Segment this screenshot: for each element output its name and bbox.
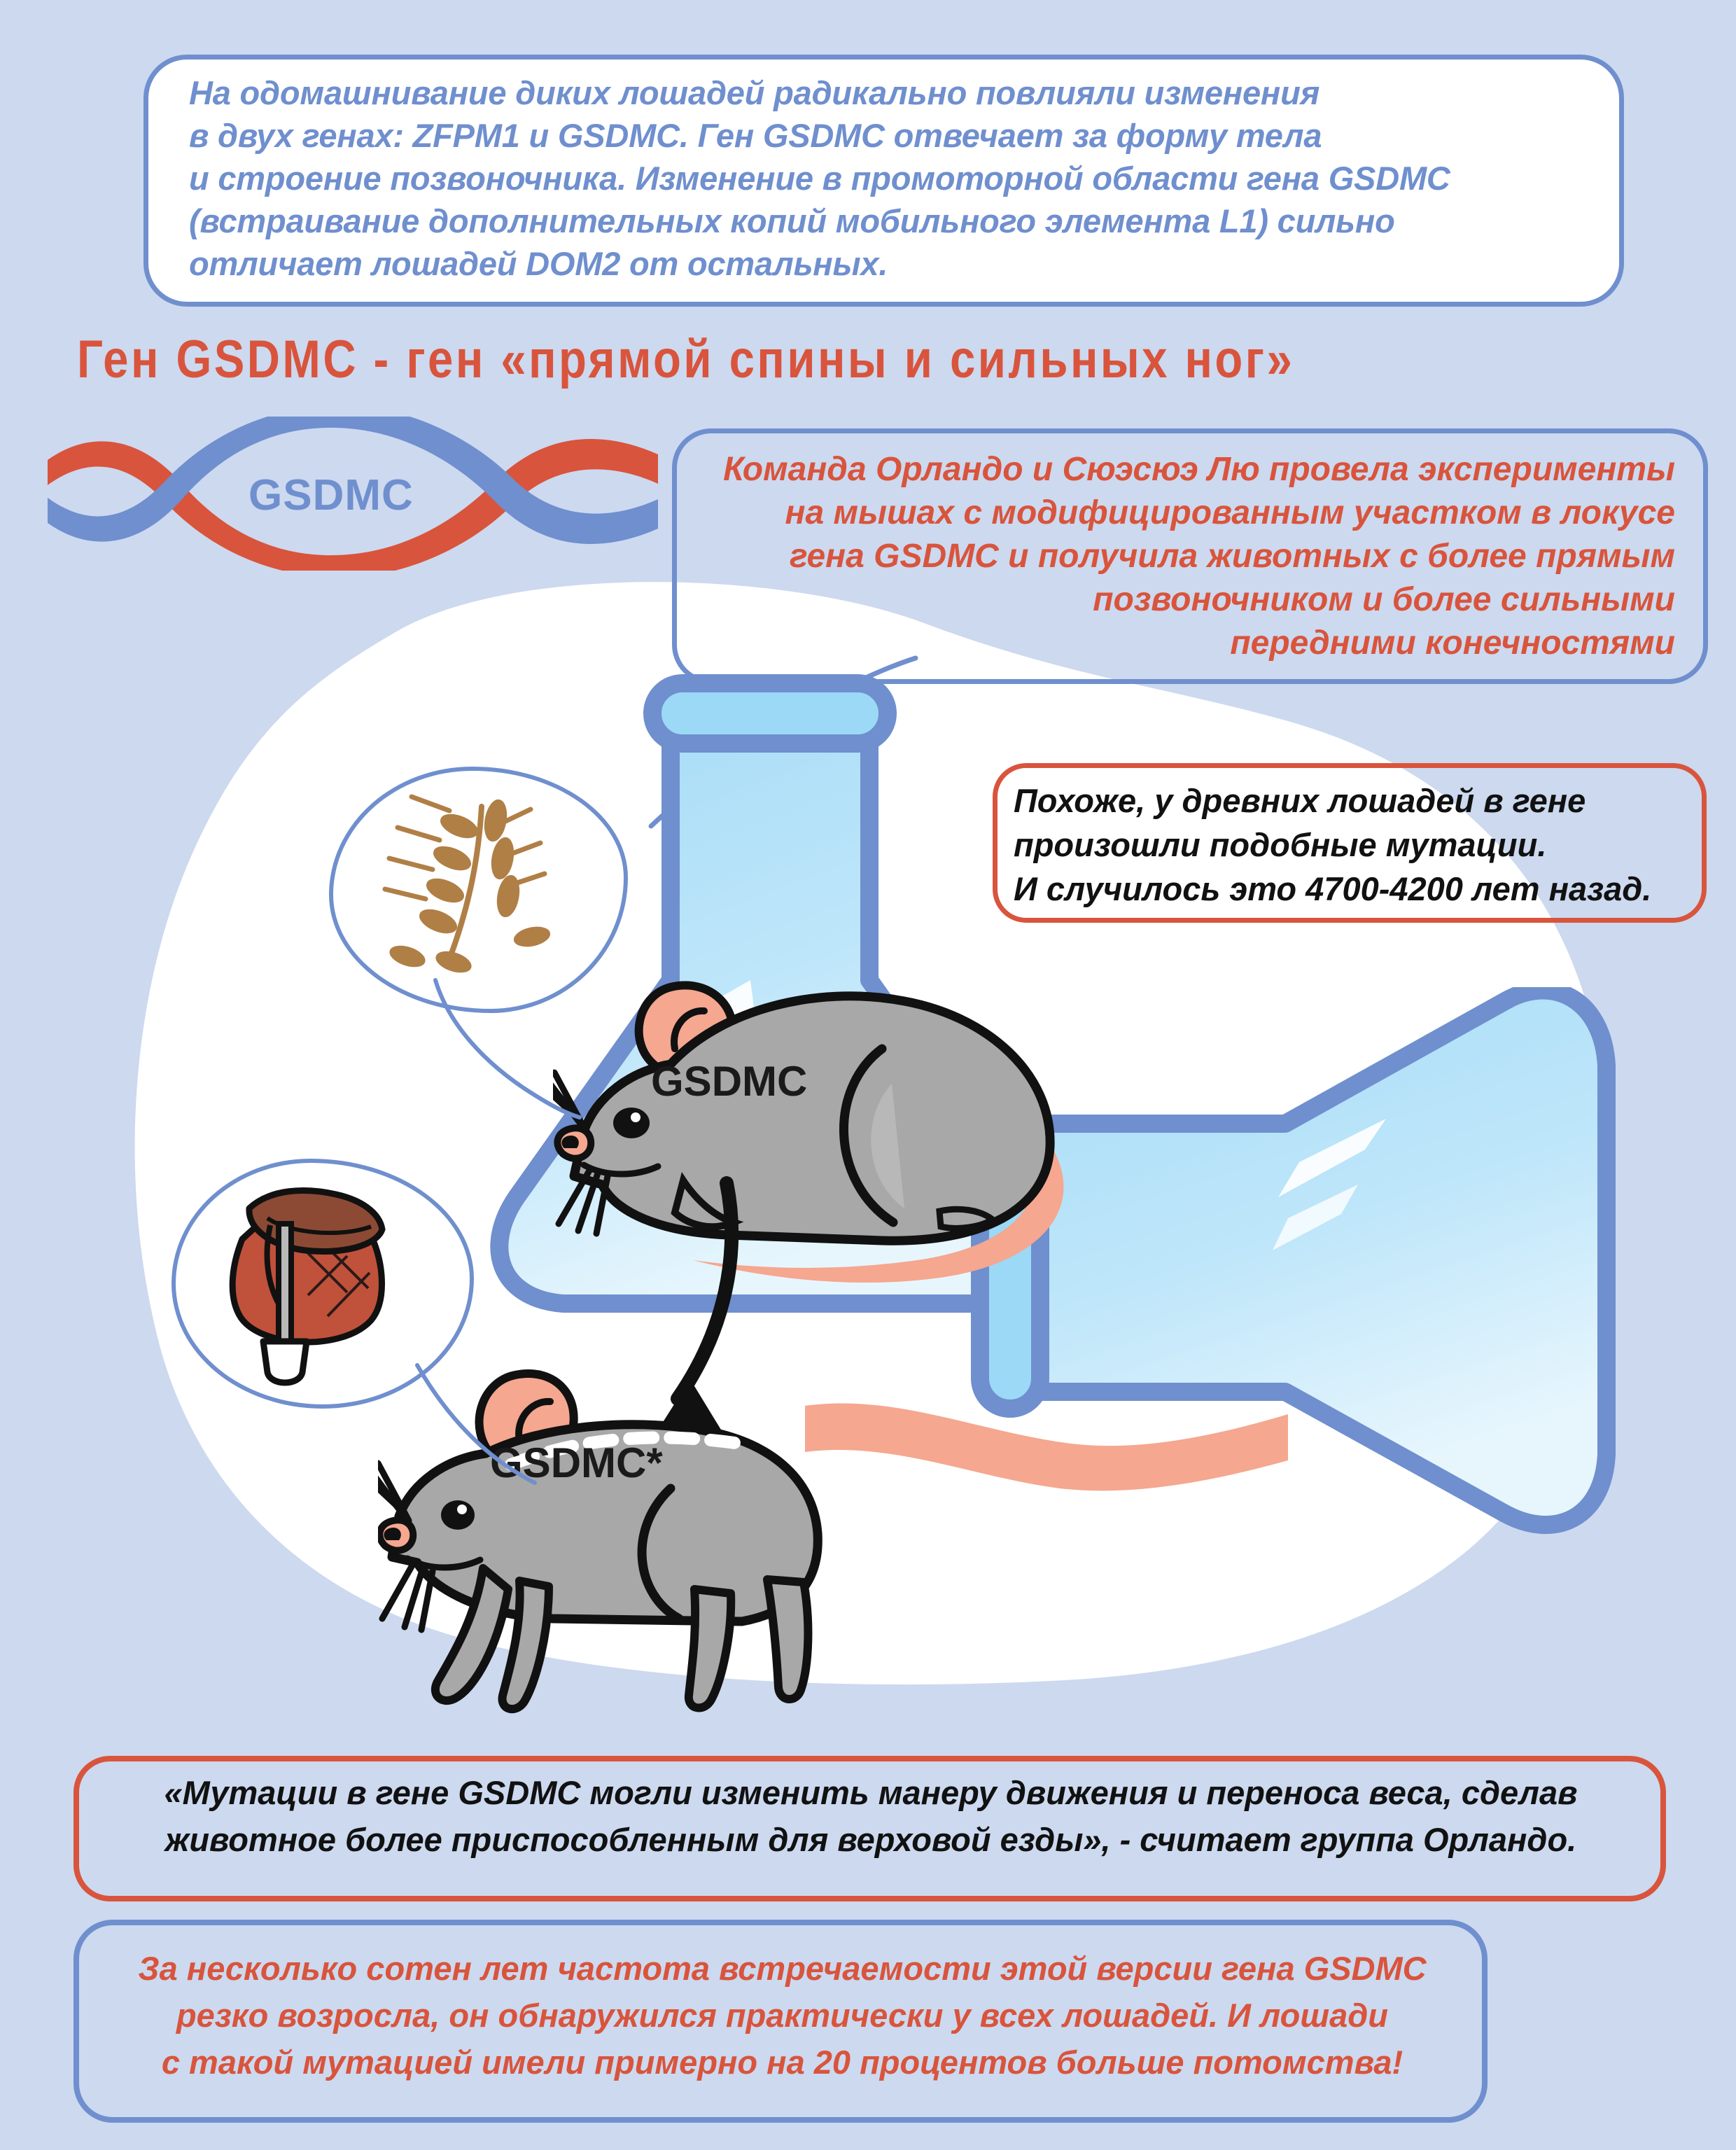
- ancient-horses-callout-text: Похоже, у древних лошадей в гене произош…: [1014, 779, 1696, 911]
- dna-gene-label: GSDMC: [248, 470, 414, 520]
- saddle-thought-bubble: [171, 1159, 474, 1409]
- orlando-quote-text: «Мутации в гене GSDMC могли изменить ман…: [91, 1769, 1651, 1863]
- page-title: Ген GSDMC - ген «прямой спины и сильных …: [77, 329, 1462, 390]
- mouse-top-gene-label: GSDMC: [651, 1057, 807, 1105]
- mouse-top: [553, 966, 1099, 1295]
- wheat-thought-bubble: [329, 767, 628, 1013]
- mouse-bottom-gene-label: GSDMC*: [490, 1439, 663, 1487]
- infographic-page: На одомашнивание диких лошадей радикальн…: [0, 0, 1736, 2150]
- intro-text: На одомашнивание диких лошадей радикальн…: [189, 71, 1596, 285]
- team-speech-text: Команда Орландо и Сюэсюэ Лю провела эксп…: [693, 448, 1690, 665]
- white-background-blob: [98, 581, 1624, 1694]
- mouse-bottom: [378, 1358, 973, 1722]
- gene-frequency-text: За несколько сотен лет частота встречаем…: [105, 1945, 1459, 2086]
- erlenmeyer-flask-rotated-icon: [805, 987, 1617, 1540]
- mouse-tail-through-flask: [805, 1365, 1295, 1519]
- curved-arrow-icon: [602, 1176, 826, 1470]
